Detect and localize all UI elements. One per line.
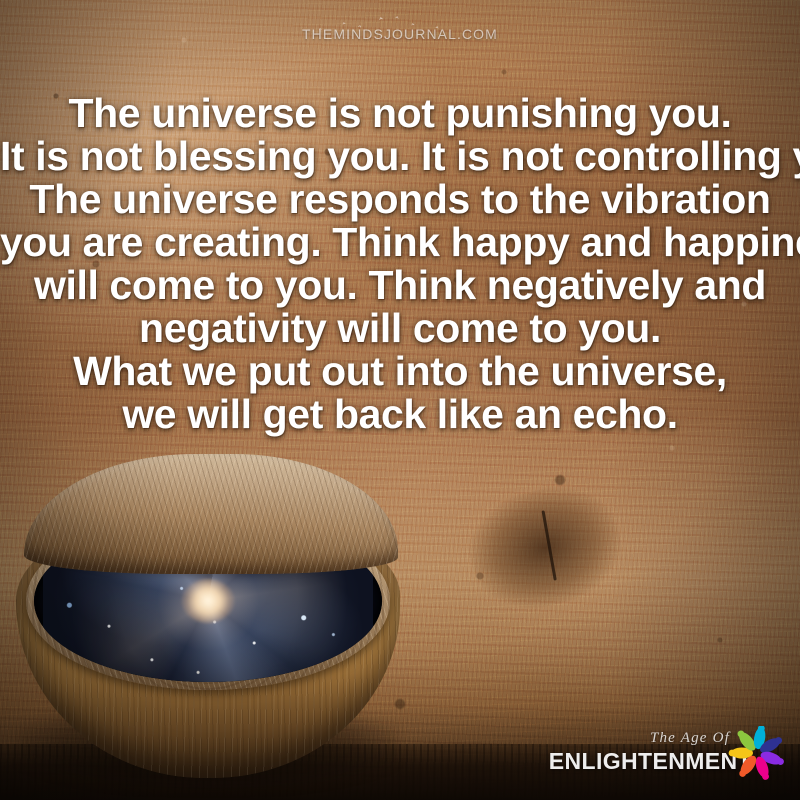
brand-name: ENLIGHTENMENT bbox=[549, 748, 752, 775]
quote-line-2: It is not blessing you. It is not contro… bbox=[0, 135, 800, 178]
quote-line-1: The universe is not punishing you. bbox=[0, 92, 800, 135]
quote-text-block: The universe is not punishing you. It is… bbox=[0, 92, 800, 436]
quote-line-8: we will get back like an echo. bbox=[0, 393, 800, 436]
quote-line-3: The universe responds to the vibration bbox=[0, 178, 800, 221]
quote-graphic-canvas: ‸ ‸ ‸ ‸ ‸ ‸ ‸ THEMINDSJOURNAL.COM The un… bbox=[0, 0, 800, 800]
brand-tagline: The Age Of bbox=[650, 730, 730, 747]
brand-logo[interactable]: The Age Of ENLIGHTENMENT bbox=[608, 726, 788, 788]
quote-line-6: negativity will come to you. bbox=[0, 307, 800, 350]
quote-line-7: What we put out into the universe, bbox=[0, 350, 800, 393]
quote-line-5: will come to you. Think negatively and bbox=[0, 264, 800, 307]
quote-line-4: you are creating. Think happy and happin… bbox=[0, 221, 800, 264]
lotus-flower-icon bbox=[728, 726, 786, 782]
watermark-text: THEMINDSJOURNAL.COM bbox=[0, 26, 800, 42]
